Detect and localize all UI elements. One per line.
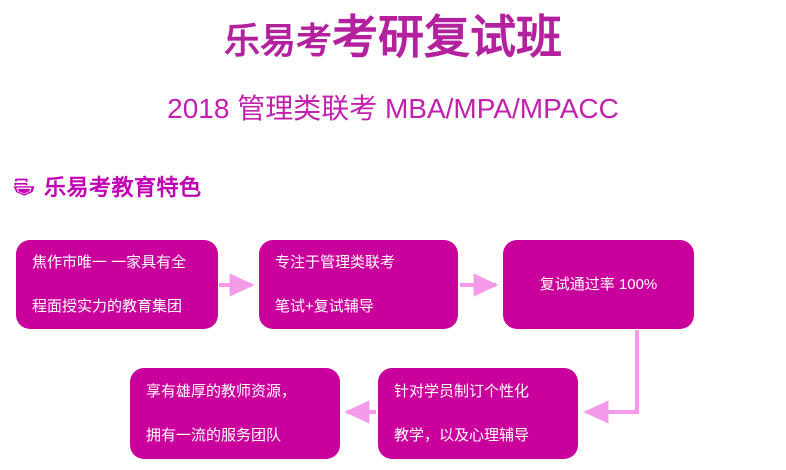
arrow-box3-to-box4 xyxy=(586,330,637,412)
flow-box-line: 笔试+复试辅导 xyxy=(275,298,442,316)
flow-box-line: 焦作市唯一 一家具有全 xyxy=(32,254,202,272)
flow-box-line: 专注于管理类联考 xyxy=(275,254,442,272)
poster-root: 乐易考考研复试班 2018 管理类联考 MBA/MPA/MPACC 乐易考教育特… xyxy=(0,0,786,470)
flow-box-feature-1: 焦作市唯一 一家具有全 程面授实力的教育集团 xyxy=(16,240,218,329)
flow-box-feature-3: 复试通过率 100% xyxy=(503,240,694,329)
flow-box-line: 拥有一流的服务团队 xyxy=(146,427,324,445)
flow-box-line: 复试通过率 100% xyxy=(540,276,658,294)
flow-box-line: 程面授实力的教育集团 xyxy=(32,298,202,316)
flow-box-line: 教学，以及心理辅导 xyxy=(394,427,562,445)
flow-box-line: 针对学员制订个性化 xyxy=(394,383,562,401)
flow-diagram: 焦作市唯一 一家具有全 程面授实力的教育集团 专注于管理类联考 笔试+复试辅导 … xyxy=(0,0,786,470)
flow-box-feature-2: 专注于管理类联考 笔试+复试辅导 xyxy=(259,240,458,329)
flow-box-line: 享有雄厚的教师资源， xyxy=(146,383,324,401)
flow-box-feature-4: 针对学员制订个性化 教学，以及心理辅导 xyxy=(378,368,578,459)
flow-box-feature-5: 享有雄厚的教师资源， 拥有一流的服务团队 xyxy=(130,368,340,459)
